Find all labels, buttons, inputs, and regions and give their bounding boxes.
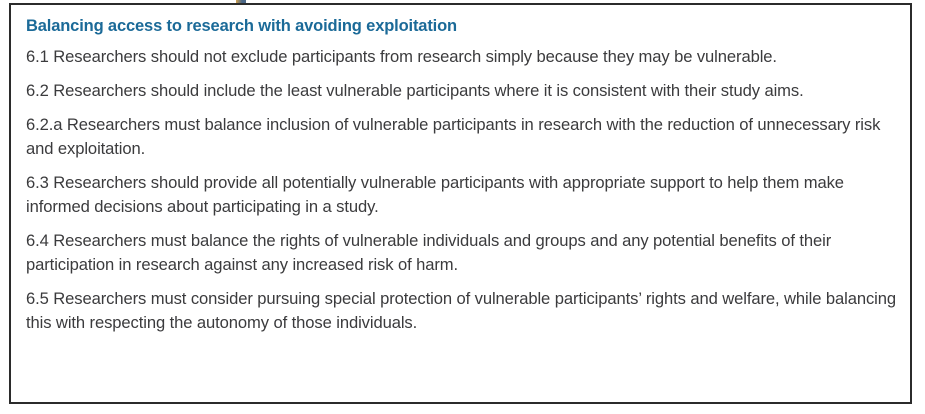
clause-item: 6.3 Researchers should provide all poten… — [26, 171, 896, 219]
page-root: Balancing access to research with avoidi… — [0, 0, 925, 414]
clause-item: 6.4 Researchers must balance the rights … — [26, 229, 896, 277]
clause-item: 6.1 Researchers should not exclude parti… — [26, 45, 896, 69]
guidance-callout-box: Balancing access to research with avoidi… — [9, 3, 912, 404]
clause-item: 6.2 Researchers should include the least… — [26, 79, 896, 103]
callout-title: Balancing access to research with avoidi… — [26, 16, 896, 36]
clause-list: 6.1 Researchers should not exclude parti… — [26, 45, 896, 335]
clause-item: 6.5 Researchers must consider pursuing s… — [26, 287, 896, 335]
clause-item: 6.2.a Researchers must balance inclusion… — [26, 113, 896, 161]
